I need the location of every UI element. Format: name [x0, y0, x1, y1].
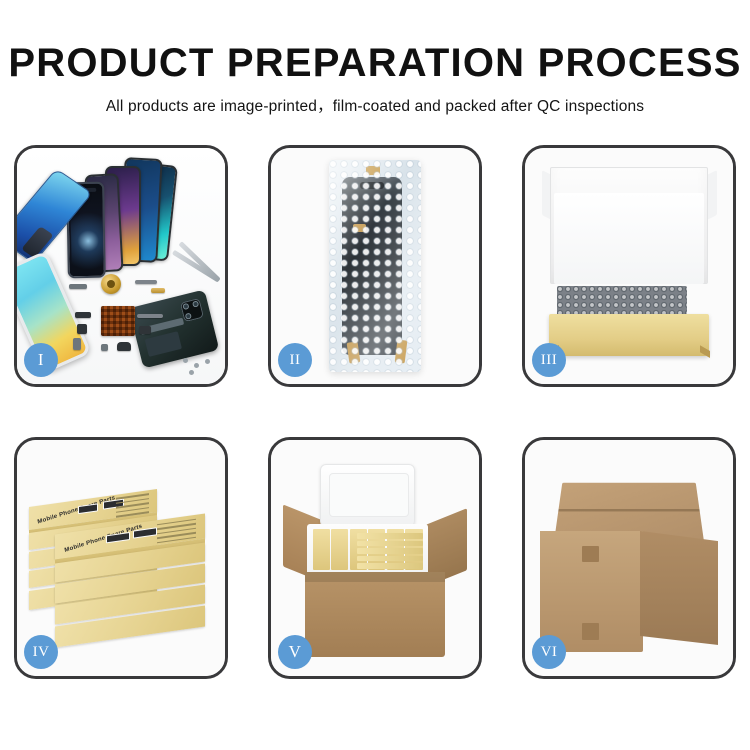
logic-board	[145, 331, 182, 357]
sealed-carton	[540, 468, 719, 652]
process-step-1[interactable]: I	[14, 145, 228, 387]
step-badge-6: VI	[532, 635, 566, 669]
process-step-3[interactable]: III	[522, 145, 736, 387]
shipping-carton-open	[283, 464, 466, 658]
bubble-wrap-bag	[329, 160, 421, 372]
carton-tape-lower	[582, 623, 598, 640]
step-badge-5: V	[278, 635, 312, 669]
page-subtitle: All products are image-printed，film-coat…	[0, 84, 750, 116]
step-badge-1: I	[24, 343, 58, 377]
spare-part-chip-a	[75, 312, 91, 318]
packed-retail-boxes-stack	[357, 533, 423, 570]
styrofoam-lid	[320, 464, 415, 528]
speaker-coil-part	[101, 274, 121, 294]
screw-set	[183, 358, 217, 376]
step-badge-4: IV	[24, 635, 58, 669]
process-step-4[interactable]: Mobile Phone Spare Parts	[14, 437, 228, 679]
spare-part-speaker	[117, 342, 131, 351]
carton-tape-upper	[582, 546, 598, 563]
plastic-gloss-overlay	[329, 160, 421, 372]
inner-box-open	[542, 167, 717, 356]
process-step-6[interactable]: VI	[522, 437, 736, 679]
foam-sheet	[554, 193, 704, 284]
spare-part-sim-tray	[73, 338, 81, 350]
carton-body	[305, 572, 444, 657]
kraft-box-tray	[549, 314, 710, 356]
retail-box-stack: Mobile Phone Spare Parts	[29, 464, 212, 658]
tweezers-tool	[165, 278, 219, 330]
step-badge-3: III	[532, 343, 566, 377]
spare-part-sensor	[139, 326, 151, 334]
spare-part-bar	[69, 284, 87, 289]
spare-part-button	[101, 344, 108, 351]
infographic-root: PRODUCT PREPARATION PROCESS All products…	[0, 0, 750, 750]
page-title: PRODUCT PREPARATION PROCESS	[0, 0, 750, 84]
spare-part-chip-b	[77, 324, 87, 334]
process-step-2[interactable]: II	[268, 145, 482, 387]
spare-part-ribbon	[137, 314, 163, 318]
carton-right-face	[640, 531, 719, 645]
process-step-5[interactable]: V	[268, 437, 482, 679]
spare-part-gold-connector	[151, 288, 165, 293]
chip-array-part	[101, 306, 135, 336]
process-steps-grid: I II	[14, 145, 736, 679]
spare-part-flex-cable	[135, 280, 157, 284]
header: PRODUCT PREPARATION PROCESS All products…	[0, 0, 750, 116]
tray-edge-right	[700, 345, 710, 357]
step-badge-2: II	[278, 343, 312, 377]
